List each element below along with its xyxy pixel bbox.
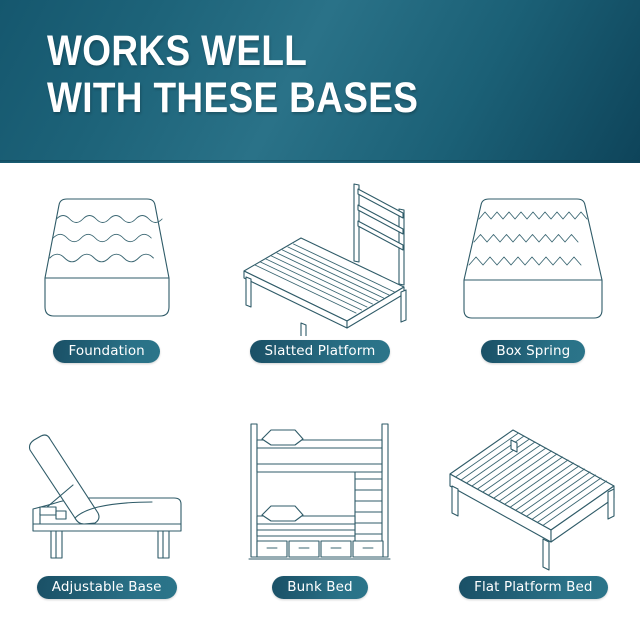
base-card-bunk-bed[interactable]: Bunk Bed bbox=[213, 402, 426, 640]
base-card-box-spring[interactable]: Box Spring bbox=[427, 163, 640, 402]
base-card-flat-platform-bed[interactable]: Flat Platform Bed bbox=[427, 402, 640, 640]
promo-graphic: WORKS WELL WITH THESE BASES bbox=[0, 0, 640, 640]
base-card-foundation[interactable]: Foundation bbox=[0, 163, 213, 402]
adjustable-base-icon bbox=[12, 412, 202, 572]
mattress-foundation-icon bbox=[12, 176, 202, 336]
base-label-flat-platform-bed: Flat Platform Bed bbox=[459, 576, 607, 599]
base-card-adjustable-base[interactable]: Adjustable Base bbox=[0, 402, 213, 640]
box-spring-icon bbox=[438, 176, 628, 336]
base-label-adjustable-base: Adjustable Base bbox=[37, 576, 177, 599]
header-banner: WORKS WELL WITH THESE BASES bbox=[0, 0, 640, 163]
base-label-slatted-platform: Slatted Platform bbox=[250, 340, 391, 363]
page-title: WORKS WELL WITH THESE BASES bbox=[47, 28, 529, 122]
bases-grid: Foundation bbox=[0, 163, 640, 640]
bunk-bed-icon bbox=[225, 412, 415, 572]
flat-platform-bed-icon bbox=[438, 412, 628, 572]
base-label-box-spring: Box Spring bbox=[481, 340, 585, 363]
base-label-bunk-bed: Bunk Bed bbox=[272, 576, 367, 599]
slatted-platform-bed-icon bbox=[225, 176, 415, 336]
base-label-foundation: Foundation bbox=[53, 340, 159, 363]
base-card-slatted-platform[interactable]: Slatted Platform bbox=[213, 163, 426, 402]
